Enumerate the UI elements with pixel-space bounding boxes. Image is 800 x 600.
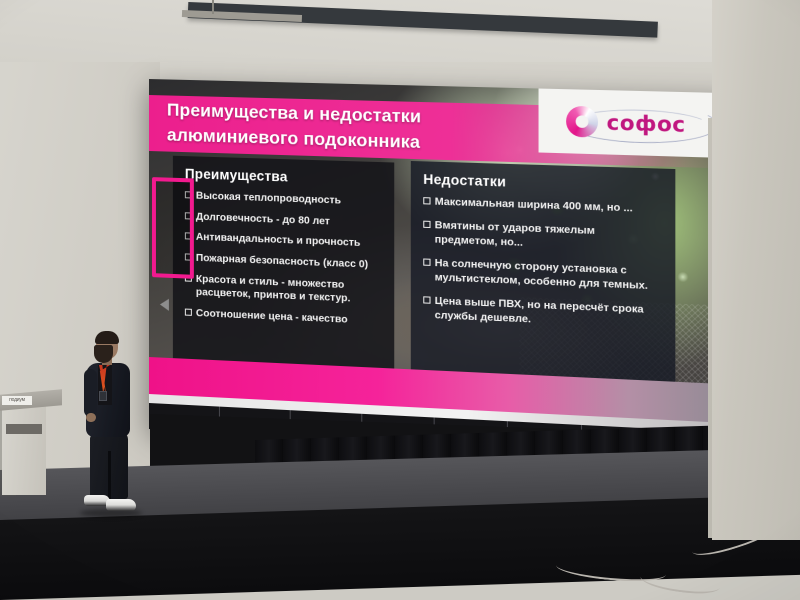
presenter-arm bbox=[84, 369, 97, 417]
ceiling bbox=[0, 0, 800, 62]
checkbox-icon bbox=[423, 258, 430, 265]
list-item: На солнечную сторону установка с мультис… bbox=[423, 256, 662, 294]
list-item: Красота и стиль - множество расцветок, п… bbox=[185, 272, 382, 308]
checkbox-icon bbox=[423, 296, 430, 303]
list-item: Соотношение цена - качество bbox=[185, 307, 382, 329]
advantages-heading: Преимущества bbox=[185, 166, 382, 187]
conference-photo-scene: Преимущества и недостатки алюминиевого п… bbox=[0, 0, 800, 600]
list-item-label: Долговечность - до 80 лет bbox=[196, 210, 330, 229]
list-item-label: Пожарная безопасность (класс 0) bbox=[196, 252, 368, 273]
disadvantages-panel: Недостатки Максимальная ширина 400 мм, н… bbox=[411, 161, 676, 392]
presenter-hand bbox=[86, 413, 96, 422]
presenter-shoe-right bbox=[106, 499, 136, 511]
sofos-logo: софос bbox=[560, 99, 723, 147]
advantages-panel: Преимущества Высокая теплопроводность До… bbox=[173, 156, 394, 369]
presenter-leg-split bbox=[108, 451, 111, 499]
presenter-badge bbox=[99, 391, 107, 401]
logo-wordmark: софос bbox=[607, 110, 686, 137]
wall-pillar bbox=[712, 0, 800, 540]
list-item-label: Соотношение цена - качество bbox=[196, 307, 348, 327]
podium-slot bbox=[6, 424, 42, 434]
list-item-label: Высокая теплопроводность bbox=[196, 190, 341, 209]
list-item: Вмятины от ударов тяжелым предметом, но.… bbox=[423, 219, 662, 256]
list-item-label: На солнечную сторону установка с мультис… bbox=[435, 257, 648, 294]
checkbox-icon bbox=[185, 309, 192, 316]
list-item-label: Красота и стиль - множество расцветок, п… bbox=[196, 273, 351, 307]
disadvantages-list: Максимальная ширина 400 мм, но ... Вмяти… bbox=[423, 195, 662, 333]
list-item: Максимальная ширина 400 мм, но ... bbox=[423, 195, 662, 217]
list-item-label: Вмятины от ударов тяжелым предметом, но.… bbox=[435, 219, 595, 253]
list-item: Антивандальность и прочность bbox=[185, 231, 382, 252]
disadvantages-heading: Недостатки bbox=[423, 172, 662, 195]
presenter bbox=[72, 333, 146, 518]
checkbox-icon bbox=[423, 197, 430, 204]
checkbox-icon bbox=[423, 221, 430, 228]
ceiling-rod bbox=[212, 0, 214, 14]
grey-triangle-pointer-icon bbox=[160, 298, 169, 310]
list-item: Пожарная безопасность (класс 0) bbox=[185, 251, 382, 272]
magenta-highlight-rectangle bbox=[152, 177, 194, 279]
podium-label: подиум bbox=[2, 396, 32, 405]
led-screen: Преимущества и недостатки алюминиевого п… bbox=[149, 79, 738, 460]
list-item-label: Максимальная ширина 400 мм, но ... bbox=[435, 195, 633, 216]
list-item: Цена выше ПВХ, но на пересчёт срока служ… bbox=[423, 294, 662, 333]
list-item-label: Антивандальность и прочность bbox=[196, 231, 360, 251]
list-item: Высокая теплопроводность bbox=[185, 189, 382, 209]
podium bbox=[2, 405, 46, 495]
presenter-hair bbox=[95, 331, 119, 344]
list-item-label: Цена выше ПВХ, но на пересчёт срока служ… bbox=[435, 294, 644, 332]
list-item: Долговечность - до 80 лет bbox=[185, 210, 382, 231]
advantages-list: Высокая теплопроводность Долговечность -… bbox=[185, 189, 382, 329]
sofos-swirl-mark-icon bbox=[566, 106, 598, 138]
